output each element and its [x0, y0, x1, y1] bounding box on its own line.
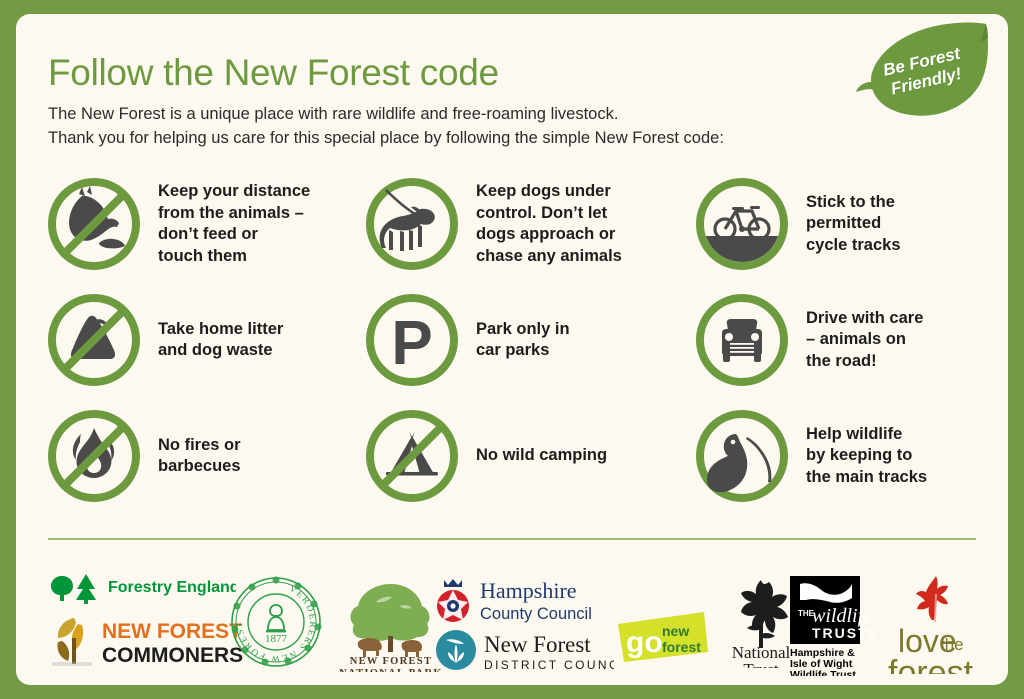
- new-forest-commoners-logo: NEW FOREST COMMONERS: [44, 612, 244, 670]
- love-the-forest-logo: love the forest: [884, 574, 994, 674]
- forestry-england-logo: Forestry England: [46, 570, 236, 604]
- rules-row: Take home litter and dog waste P Park on…: [44, 282, 980, 398]
- rule-line: dogs approach or: [476, 224, 622, 246]
- commoners-line-2: COMMONERS: [102, 644, 243, 667]
- divider: [48, 538, 976, 540]
- rule-line: by keeping to: [806, 445, 927, 467]
- nt-line-2: Trust: [743, 660, 779, 668]
- rule-line: the road!: [806, 351, 923, 373]
- be-forest-friendly-badge: Be Forest Friendly!: [854, 20, 994, 124]
- verderers-year: 1877: [265, 633, 288, 645]
- rule-text: Help wildlife by keeping to the main tra…: [806, 424, 927, 489]
- rule-text: Drive with care – animals on the road!: [806, 308, 923, 373]
- rule-line: No wild camping: [476, 445, 607, 467]
- leaves-icon: [52, 618, 92, 666]
- rule-line: control. Don’t let: [476, 203, 622, 225]
- page-title: Follow the New Forest code: [48, 52, 499, 94]
- forestry-england-label: Forestry England: [108, 579, 236, 596]
- rule-line: chase any animals: [476, 246, 622, 268]
- poster-card: Follow the New Forest code The New Fores…: [16, 14, 1008, 685]
- intro-line-2: Thank you for helping us care for this s…: [48, 126, 724, 150]
- rule-line: don’t feed or: [158, 224, 310, 246]
- rule-drive-with-care: Drive with care – animals on the road!: [692, 282, 980, 398]
- oak-leaf-sprig-icon: [741, 580, 788, 648]
- rule-line: barbecues: [158, 456, 241, 478]
- rule-park-only-in-car-parks: P Park only in car parks: [362, 282, 692, 398]
- rule-line: Park only in: [476, 319, 570, 341]
- oak-leaf-icon: [916, 576, 948, 622]
- verderers-seal-logo: VERDERERS NEW FOREST 1877: [226, 572, 326, 672]
- horse-head-no-feed-icon: [44, 174, 144, 274]
- rule-line: No fires or: [158, 435, 241, 457]
- wt-sub-3: Wildlife Trust: [790, 669, 856, 676]
- rule-text: Take home litter and dog waste: [158, 319, 283, 362]
- rules-row: No fires or barbecues: [44, 398, 980, 514]
- new-forest-national-park-logo: NEW FOREST NATIONAL PARK: [336, 580, 446, 672]
- rule-help-wildlife: Help wildlife by keeping to the main tra…: [692, 398, 980, 514]
- rule-line: cycle tracks: [806, 235, 901, 257]
- rule-line: car parks: [476, 340, 570, 362]
- parking-p-icon: P: [362, 290, 462, 390]
- rule-text: Keep dogs under control. Don’t let dogs …: [476, 181, 622, 267]
- rule-text: Keep your distance from the animals – do…: [158, 181, 310, 267]
- rule-no-wild-camping: No wild camping: [362, 398, 692, 514]
- hcc-line-1: Hampshire: [480, 578, 577, 603]
- ltf-forest: forest: [888, 654, 974, 674]
- wildlife-trusts-logo: THE wildlife TRUSTS Hampshire & Isle of …: [790, 576, 874, 676]
- nfnp-line-1: NEW FOREST: [350, 656, 433, 667]
- rule-take-home-litter: Take home litter and dog waste: [44, 282, 362, 398]
- rule-keep-dogs-under-control: Keep dogs under control. Don’t let dogs …: [362, 166, 692, 282]
- rule-text: Park only in car parks: [476, 319, 570, 362]
- rule-line: Stick to the: [806, 192, 901, 214]
- rule-line: the main tracks: [806, 467, 927, 489]
- rule-keep-your-distance: Keep your distance from the animals – do…: [44, 166, 362, 282]
- flame-icon: [44, 406, 144, 506]
- rule-line: Keep dogs under: [476, 181, 622, 203]
- tent-icon: [362, 406, 462, 506]
- go-forest-word: forest: [662, 639, 701, 655]
- wt-trusts: TRUSTS: [812, 625, 874, 641]
- verderers-ring-text: VERDERERS NEW FOREST: [235, 584, 317, 663]
- dog-on-leash-icon: [362, 174, 462, 274]
- bicycle-icon: [692, 174, 792, 274]
- rule-text: No fires or barbecues: [158, 435, 241, 478]
- poster-root: Follow the New Forest code The New Fores…: [0, 0, 1024, 699]
- litter-bag-icon: [44, 290, 144, 390]
- rule-line: Take home litter: [158, 319, 283, 341]
- new-forest-district-council-logo: New Forest DISTRICT COUNCIL: [434, 628, 614, 676]
- ltf-the: the: [940, 635, 964, 654]
- hampshire-rose-crown-icon: [437, 579, 469, 622]
- stirrup-icon: [266, 605, 286, 632]
- rule-text: No wild camping: [476, 445, 607, 467]
- rule-line: Help wildlife: [806, 424, 927, 446]
- svg-text:P: P: [391, 309, 432, 378]
- nfdc-mark-icon: [436, 630, 476, 670]
- intro-line-1: The New Forest is a unique place with ra…: [48, 102, 724, 126]
- go-new-word: new: [662, 623, 689, 639]
- rule-line: and dog waste: [158, 340, 283, 362]
- rule-line: Keep your distance: [158, 181, 310, 203]
- tree-ponies-icon: [351, 584, 430, 657]
- rules-row: Keep your distance from the animals – do…: [44, 166, 980, 282]
- rule-line: permitted: [806, 213, 901, 235]
- commoners-line-1: NEW FOREST: [102, 620, 242, 643]
- go-word: go: [626, 626, 663, 659]
- tree-icon: [51, 574, 96, 604]
- go-new-forest-logo: go new forest: [614, 610, 712, 666]
- hcc-line-2: County Council: [480, 605, 592, 623]
- rule-line: from the animals –: [158, 203, 310, 225]
- rule-stick-to-cycle-tracks: Stick to the permitted cycle tracks: [692, 166, 980, 282]
- rules-grid: Keep your distance from the animals – do…: [44, 166, 980, 514]
- partner-logos: Forestry England NEW FOREST COMMONERS: [36, 562, 992, 674]
- wt-wildlife: wildlife: [812, 605, 872, 627]
- rule-text: Stick to the permitted cycle tracks: [806, 192, 901, 257]
- intro-text: The New Forest is a unique place with ra…: [48, 102, 724, 150]
- rule-line: Drive with care: [806, 308, 923, 330]
- nfdc-line-2: DISTRICT COUNCIL: [484, 658, 614, 672]
- nfdc-line-1: New Forest: [484, 632, 591, 657]
- curlew-bird-icon: [692, 406, 792, 506]
- hampshire-county-council-logo: Hampshire County Council: [434, 572, 609, 628]
- nfnp-line-2: NATIONAL PARK: [339, 668, 443, 672]
- rule-line: – animals on: [806, 329, 923, 351]
- leaf-icon: [854, 20, 994, 124]
- car-front-icon: [692, 290, 792, 390]
- rule-no-fires-or-barbecues: No fires or barbecues: [44, 398, 362, 514]
- rule-line: touch them: [158, 246, 310, 268]
